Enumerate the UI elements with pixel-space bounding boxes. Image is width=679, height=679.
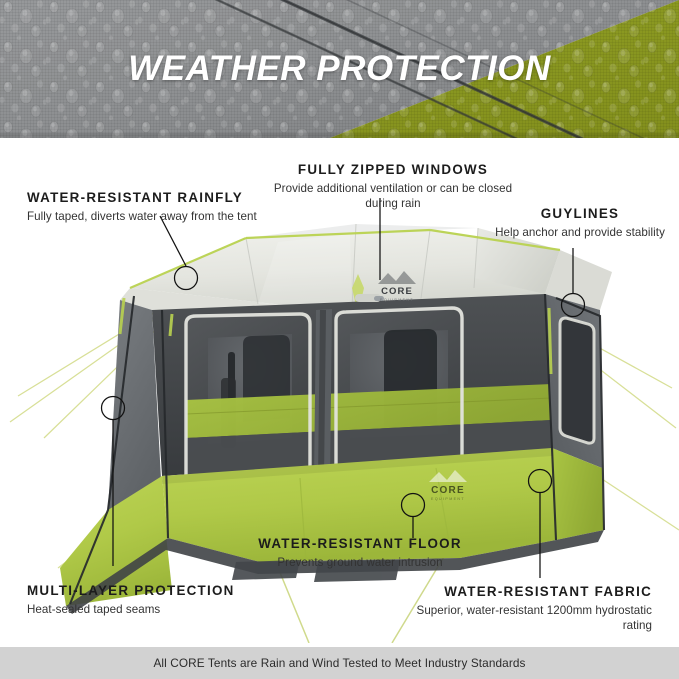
callout-multilayer-title: MULTI-LAYER PROTECTION [27,583,307,600]
callout-fabric: WATER-RESISTANT FABRIC Superior, water-r… [400,584,652,633]
svg-text:CORE: CORE [381,286,413,297]
header-banner: WEATHER PROTECTION [0,0,679,138]
callout-multilayer: MULTI-LAYER PROTECTION Heat-sealed taped… [27,583,307,617]
infographic-page: WEATHER PROTECTION [0,0,679,679]
callout-rainfly: WATER-RESISTANT RAINFLY Fully taped, div… [27,190,277,224]
footer-text: All CORE Tents are Rain and Wind Tested … [153,656,525,670]
banner-title: WEATHER PROTECTION [0,0,679,138]
callout-fabric-body: Superior, water-resistant 1200mm hydrost… [400,603,652,634]
callout-guylines-body: Help anchor and provide stability [492,225,668,240]
callout-rainfly-body: Fully taped, diverts water away from the… [27,209,277,224]
callout-floor-body: Prevents ground water intrusion [230,555,490,570]
callout-guylines: GUYLINES Help anchor and provide stabili… [492,206,668,240]
callout-windows: FULLY ZIPPED WINDOWS Provide additional … [268,162,518,211]
callout-windows-body: Provide additional ventilation or can be… [268,181,518,212]
callout-guylines-title: GUYLINES [492,206,668,223]
callout-windows-title: FULLY ZIPPED WINDOWS [268,162,518,179]
svg-text:CORE: CORE [431,485,465,496]
callout-multilayer-body: Heat-sealed taped seams [27,602,307,617]
callout-floor-title: WATER-RESISTANT FLOOR [230,536,490,553]
callout-fabric-title: WATER-RESISTANT FABRIC [400,584,652,601]
window-right [560,318,594,443]
svg-text:EQUIPMENT: EQUIPMENT [380,298,414,302]
footer-bar: All CORE Tents are Rain and Wind Tested … [0,647,679,679]
callout-floor: WATER-RESISTANT FLOOR Prevents ground wa… [230,536,490,570]
svg-text:EQUIPMENT: EQUIPMENT [431,497,465,501]
callout-rainfly-title: WATER-RESISTANT RAINFLY [27,190,277,207]
